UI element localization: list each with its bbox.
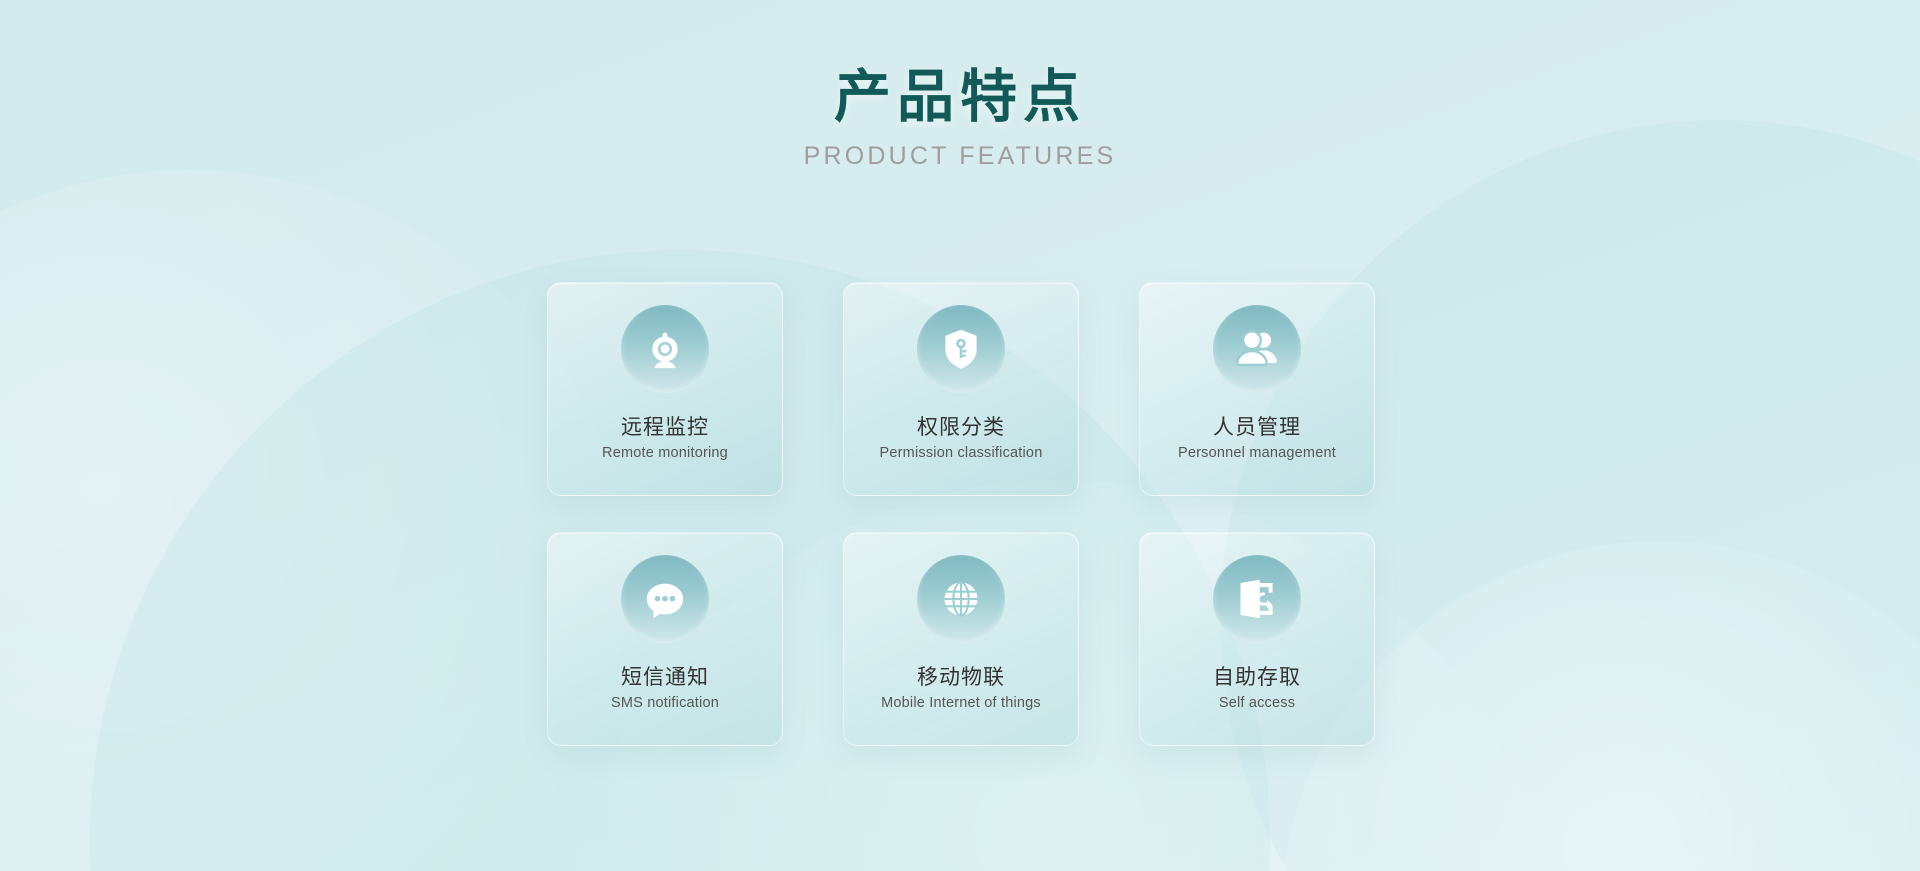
- shield-key-icon: [939, 327, 983, 371]
- webcam-icon: [642, 326, 688, 372]
- feature-title-cn: 人员管理: [1213, 415, 1301, 441]
- icon-badge: [1213, 555, 1301, 643]
- feature-title-cn: 移动物联: [917, 665, 1005, 691]
- background-blob-left: [0, 170, 640, 871]
- feature-title-en: Remote monitoring: [602, 444, 728, 463]
- icon-badge: [621, 555, 709, 643]
- icon-badge: [1213, 305, 1301, 393]
- feature-title-cn: 短信通知: [621, 665, 709, 691]
- feature-title-cn: 自助存取: [1213, 665, 1301, 691]
- feature-card-mobile-iot[interactable]: 移动物联 Mobile Internet of things: [843, 532, 1079, 746]
- page-title: 产品特点: [0, 68, 1920, 128]
- feature-title-en: Permission classification: [880, 444, 1043, 463]
- feature-card-remote-monitoring[interactable]: 远程监控 Remote monitoring: [547, 282, 783, 496]
- chat-bubble-dots-icon: [642, 576, 688, 622]
- feature-card-self-access[interactable]: 自助存取 Self access: [1139, 532, 1375, 746]
- feature-title-en: Self access: [1219, 694, 1295, 713]
- feature-card-personnel-management[interactable]: 人员管理 Personnel management: [1139, 282, 1375, 496]
- feature-title-en: Mobile Internet of things: [881, 694, 1041, 713]
- feature-title-cn: 远程监控: [621, 415, 709, 441]
- icon-badge: [917, 555, 1005, 643]
- door-exit-icon: [1235, 577, 1279, 621]
- background-blob-right-glow: [1280, 541, 1920, 871]
- feature-title-cn: 权限分类: [917, 415, 1005, 441]
- globe-grid-icon: [939, 577, 983, 621]
- users-icon: [1233, 325, 1281, 373]
- feature-card-permission-classification[interactable]: 权限分类 Permission classification: [843, 282, 1079, 496]
- section-header: 产品特点 PRODUCT FEATURES: [0, 68, 1920, 171]
- icon-badge: [917, 305, 1005, 393]
- feature-title-en: Personnel management: [1178, 444, 1336, 463]
- features-grid: 远程监控 Remote monitoring 权限分类 Permis: [547, 282, 1373, 744]
- icon-badge: [621, 305, 709, 393]
- product-features-section: 产品特点 PRODUCT FEATURES 远程监控 Remote monito…: [0, 0, 1920, 871]
- feature-card-sms-notification[interactable]: 短信通知 SMS notification: [547, 532, 783, 746]
- feature-title-en: SMS notification: [611, 694, 719, 713]
- page-subtitle: PRODUCT FEATURES: [0, 142, 1920, 171]
